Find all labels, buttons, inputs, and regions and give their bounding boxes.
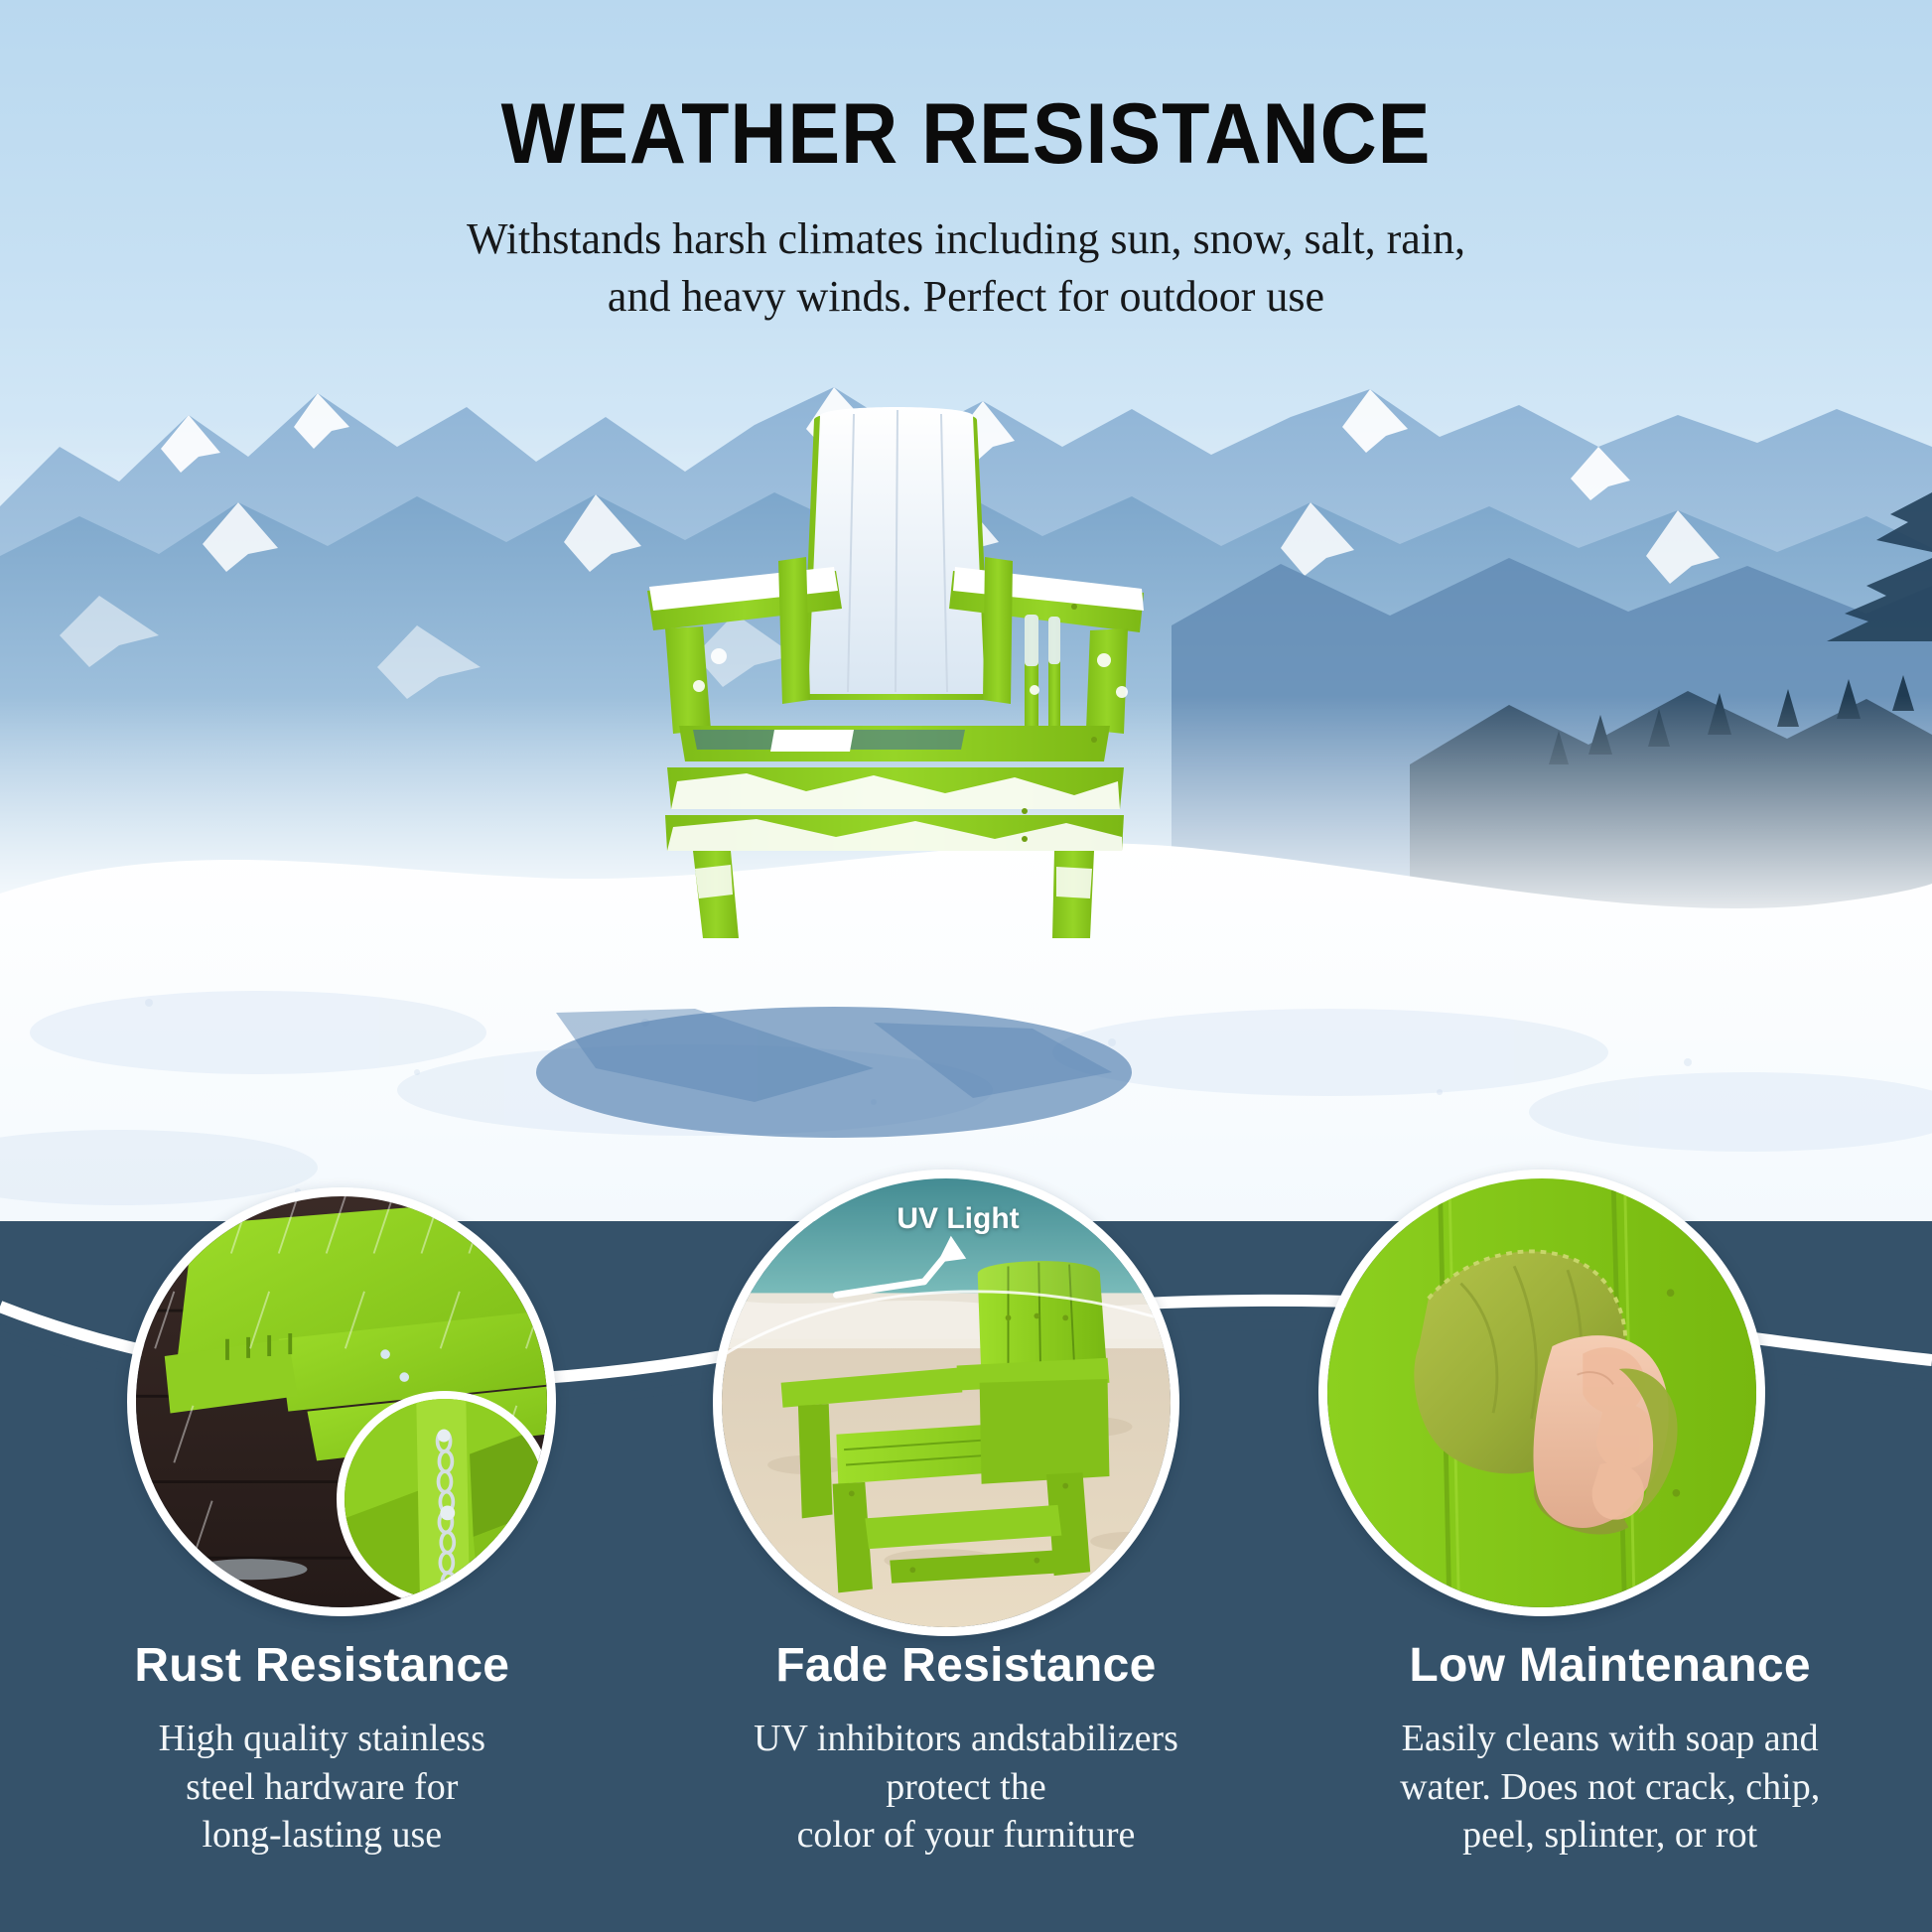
feature-text-row: Rust Resistance High quality stainless s… xyxy=(0,1638,1932,1860)
feature-desc-line: Easily cleans with soap and xyxy=(1321,1715,1898,1763)
fade-resistance-photo xyxy=(722,1178,1171,1627)
feature-desc-line: long-lasting use xyxy=(34,1811,611,1860)
feature-column-rust-resistance: Rust Resistance High quality stainless s… xyxy=(0,1638,644,1860)
low-maintenance-photo xyxy=(1327,1178,1756,1607)
feature-desc-line: peel, splinter, or rot xyxy=(1321,1811,1898,1860)
uv-light-label: UV Light xyxy=(769,1202,1147,1236)
feature-desc-line: steel hardware for xyxy=(34,1763,611,1812)
feature-desc-low-maintenance: Easily cleans with soap and water. Does … xyxy=(1321,1715,1898,1860)
feature-title-fade-resistance: Fade Resistance xyxy=(678,1638,1255,1693)
feature-desc-line: High quality stainless xyxy=(34,1715,611,1763)
feature-title-rust-resistance: Rust Resistance xyxy=(34,1638,611,1693)
feature-image-low-maintenance xyxy=(1318,1170,1765,1616)
feature-desc-line: water. Does not crack, chip, xyxy=(1321,1763,1898,1812)
feature-column-fade-resistance: Fade Resistance UV inhibitors andstabili… xyxy=(644,1638,1289,1860)
feature-image-rust-resistance xyxy=(127,1187,556,1616)
infographic-stage: WEATHER RESISTANCE Withstands harsh clim… xyxy=(0,0,1932,1932)
feature-title-low-maintenance: Low Maintenance xyxy=(1321,1638,1898,1693)
feature-desc-fade-resistance: UV inhibitors andstabilizers protect the… xyxy=(678,1715,1255,1860)
feature-image-fade-resistance: UV Light xyxy=(713,1170,1179,1636)
feature-column-low-maintenance: Low Maintenance Easily cleans with soap … xyxy=(1288,1638,1932,1860)
feature-desc-line: UV inhibitors andstabilizers xyxy=(678,1715,1255,1763)
stainless-chain-inset xyxy=(337,1391,553,1607)
feature-desc-rust-resistance: High quality stainless steel hardware fo… xyxy=(34,1715,611,1860)
feature-desc-line: protect the xyxy=(678,1763,1255,1812)
feature-desc-line: color of your furniture xyxy=(678,1811,1255,1860)
